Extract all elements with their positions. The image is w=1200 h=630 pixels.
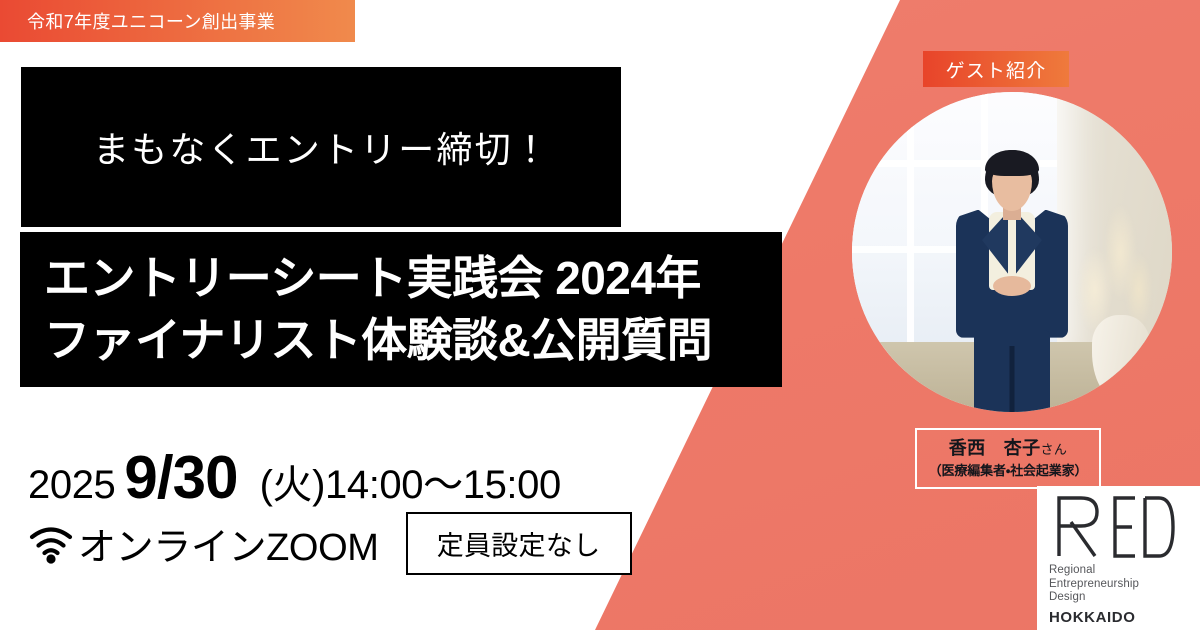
guest-figure (938, 150, 1085, 412)
kicker-label: まもなくエントリー締切！ (93, 121, 551, 173)
kicker-box: まもなくエントリー締切！ (21, 67, 621, 227)
program-tag: 令和7年度ユニコーン創出事業 (0, 0, 355, 42)
venue-label: オンラインZOOM (78, 516, 379, 571)
event-banner: ゲスト紹介 香西 杏子さん （医療編集者・社会起業家） Regional Ent… (0, 0, 1200, 630)
vase (1092, 315, 1150, 399)
title-line-2: ファイナリスト体験談&公開質問 (44, 310, 782, 371)
wifi-icon (28, 524, 74, 564)
date-year: 2025 (28, 463, 115, 508)
guest-name: 香西 杏子さん (923, 437, 1093, 460)
red-word-design: Design (1049, 591, 1200, 605)
red-logo: Regional Entrepreneurship Design HOKKAID… (1037, 486, 1200, 630)
date-row: 2025 9/30 (火)14:00〜15:00 (28, 443, 561, 512)
program-tag-label: 令和7年度ユニコーン創出事業 (27, 8, 275, 34)
red-wordmark-icon (1049, 492, 1179, 558)
guest-photo (852, 92, 1172, 412)
red-word-entrepreneurship: Entrepreneurship (1049, 578, 1200, 592)
red-word-regional: Regional (1049, 564, 1200, 578)
capacity-label: 定員設定なし (437, 524, 601, 563)
guest-name-text: 香西 杏子 (949, 438, 1041, 458)
figure-pants-seam (1009, 346, 1014, 412)
guest-caption: 香西 杏子さん （医療編集者・社会起業家） (915, 428, 1101, 489)
window-mullion-vertical (907, 92, 914, 348)
figure-hands (993, 276, 1031, 296)
date-month-day: 9/30 (124, 443, 237, 512)
title-line-1: エントリーシート実践会 2024年 (44, 248, 782, 309)
wifi-dot (46, 554, 55, 563)
date-time: (火)14:00〜15:00 (260, 452, 561, 510)
guest-badge: ゲスト紹介 (923, 51, 1069, 87)
venue-row: オンラインZOOM 定員設定なし (28, 512, 632, 575)
capacity-box: 定員設定なし (406, 512, 632, 575)
guest-role: （医療編集者・社会起業家） (923, 463, 1093, 479)
guest-honorific: さん (1041, 442, 1068, 457)
title-box: エントリーシート実践会 2024年 ファイナリスト体験談&公開質問 (20, 232, 782, 387)
guest-badge-label: ゲスト紹介 (946, 56, 1047, 83)
red-logo-region: HOKKAIDO (1049, 609, 1200, 626)
figure-fringe (985, 150, 1039, 176)
red-logo-words: Regional Entrepreneurship Design (1049, 564, 1200, 605)
